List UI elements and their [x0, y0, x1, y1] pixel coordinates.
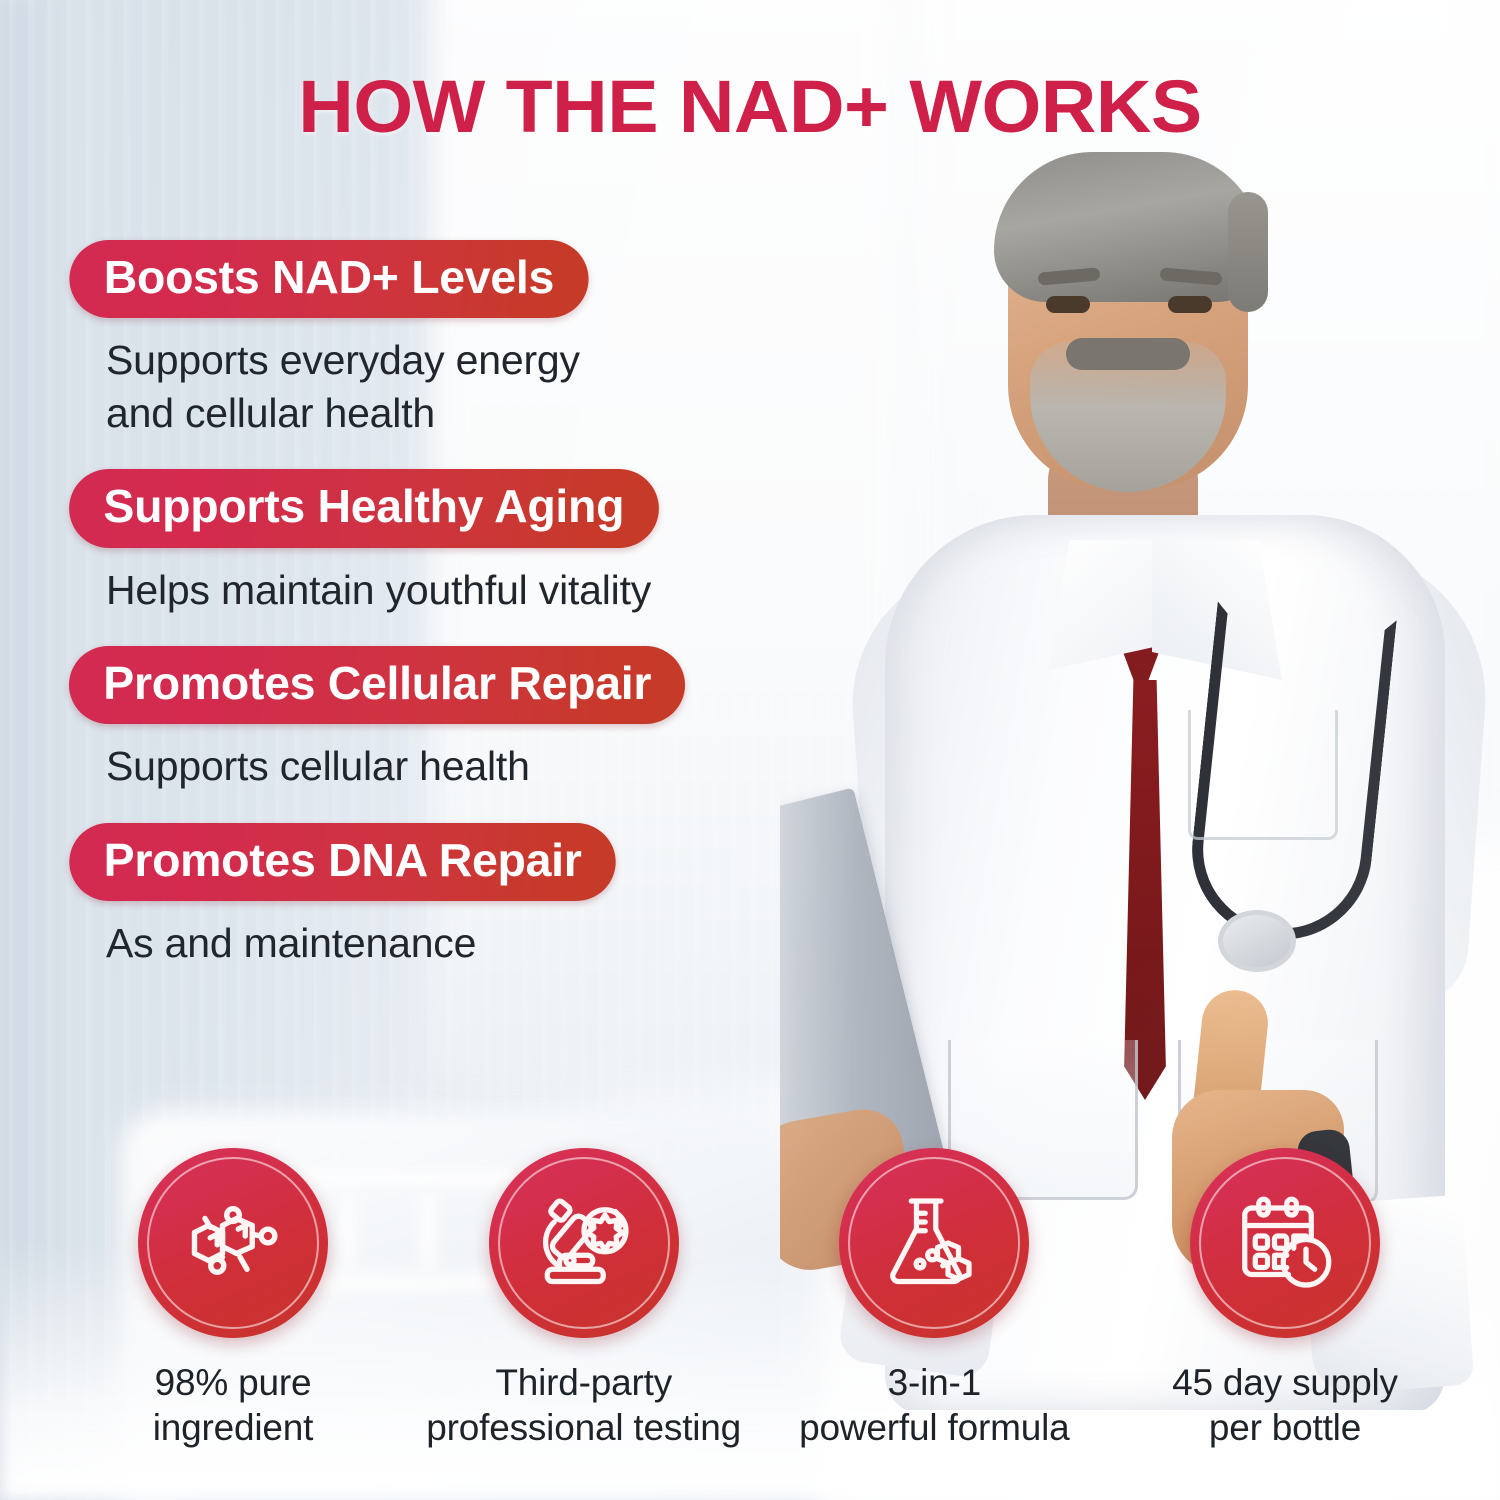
benefit-badge: Promotes DNA Repair	[69, 823, 616, 901]
microscope-icon	[489, 1148, 679, 1338]
benefit-badge: Promotes Cellular Repair	[69, 646, 686, 724]
eye-right	[1168, 296, 1212, 313]
eye-left	[1046, 296, 1090, 313]
coat-chest-pocket	[1188, 710, 1338, 840]
stethoscope-head	[1218, 910, 1296, 972]
calendar-clock-icon	[1190, 1148, 1380, 1338]
feature-label: 98% pure ingredient	[153, 1360, 314, 1450]
feature-item: Third-party professional testing	[409, 1148, 759, 1450]
feature-label: 45 day supply per bottle	[1172, 1360, 1398, 1450]
benefit-item: Promotes DNA Repair As and maintenance	[72, 823, 902, 970]
feature-item: 3-in-1 powerful formula	[759, 1148, 1109, 1450]
benefits-list: Boosts NAD+ Levels Supports everyday ene…	[72, 240, 902, 1000]
infographic-page: HOW THE NAD+ WORKS Boosts NAD+ Levels Su…	[0, 0, 1500, 1500]
flask-icon	[839, 1148, 1029, 1338]
benefit-description: Supports cellular health	[72, 740, 902, 792]
feature-item: 45 day supply per bottle	[1110, 1148, 1460, 1450]
benefit-item: Supports Healthy Aging Helps maintain yo…	[72, 469, 902, 616]
benefit-description: As and maintenance	[72, 917, 902, 969]
feature-badges-row: 98% pure ingredient Third-party professi…	[58, 1148, 1460, 1450]
page-title: HOW THE NAD+ WORKS	[0, 64, 1500, 149]
moustache	[1066, 338, 1190, 370]
benefit-description: Supports everyday energy and cellular he…	[72, 334, 902, 439]
feature-item: 98% pure ingredient	[58, 1148, 408, 1450]
molecule-icon	[138, 1148, 328, 1338]
benefit-badge: Boosts NAD+ Levels	[69, 240, 588, 318]
feature-label: Third-party professional testing	[426, 1360, 741, 1450]
benefit-item: Boosts NAD+ Levels Supports everyday ene…	[72, 240, 902, 439]
benefit-badge: Supports Healthy Aging	[69, 469, 658, 547]
benefit-description: Helps maintain youthful vitality	[72, 564, 902, 616]
benefit-item: Promotes Cellular Repair Supports cellul…	[72, 646, 902, 793]
feature-label: 3-in-1 powerful formula	[799, 1360, 1069, 1450]
